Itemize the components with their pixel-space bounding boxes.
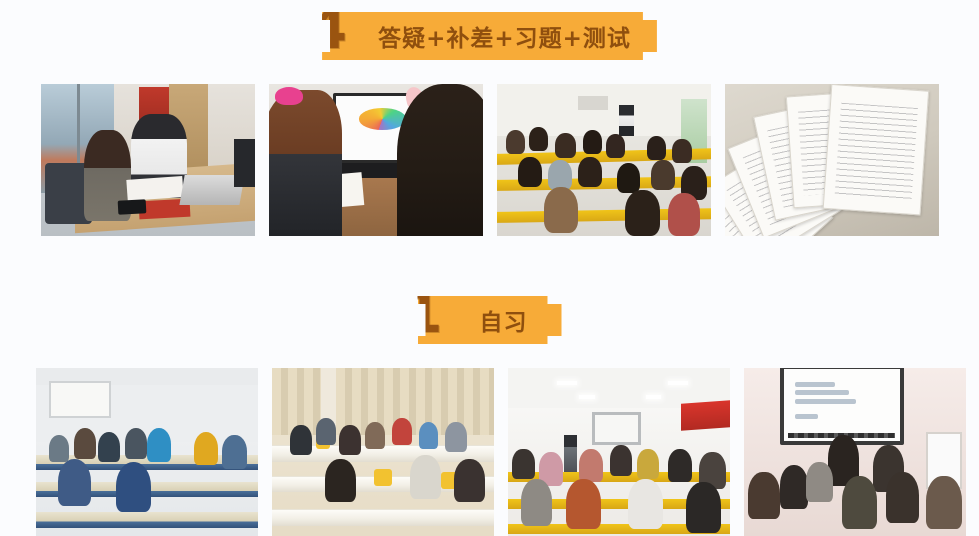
- photo-scene: [272, 368, 494, 536]
- section-qa: 4 答疑+补差+习题+测试: [0, 12, 979, 60]
- section-banner-qa: 4 答疑+补差+习题+测试: [322, 12, 657, 60]
- section-self-study: 1 自习: [0, 296, 979, 344]
- student-figure: [58, 459, 91, 506]
- student-head: [518, 157, 542, 187]
- photo-scene: [41, 84, 255, 236]
- exam-sheet: [823, 84, 930, 215]
- student-head: [506, 130, 525, 154]
- student-figure: [397, 84, 483, 236]
- smartboard-text-line: [795, 414, 818, 419]
- photo-scene: [508, 368, 730, 536]
- wall-decoration: [931, 398, 958, 432]
- student-head: [529, 127, 548, 151]
- photo-row-self-study: [36, 368, 966, 536]
- banner-number: 4: [308, 2, 345, 58]
- student-figure: [49, 435, 69, 462]
- red-wall-banner: [681, 400, 730, 430]
- student-head: [672, 139, 691, 163]
- student-head: [606, 134, 625, 158]
- student-figure: [521, 479, 552, 526]
- student-head: [668, 193, 700, 236]
- bench-row: [36, 512, 258, 527]
- student-figure: [886, 472, 919, 522]
- photo-scene: [725, 84, 939, 236]
- photo-study-hall[interactable]: [272, 368, 494, 536]
- wall-sign: [578, 96, 608, 110]
- teacher-figure: [564, 435, 577, 472]
- ceiling-light: [646, 395, 662, 399]
- student-figure: [668, 449, 692, 483]
- student-figure: [454, 459, 485, 503]
- section-banner-self-study: 1 自习: [418, 296, 562, 344]
- student-figure: [194, 432, 218, 466]
- student-figure: [579, 449, 603, 483]
- student-figure: [748, 472, 779, 519]
- photo-scene: [497, 84, 711, 236]
- banner-label: 答疑+补差+习题+测试: [378, 19, 631, 53]
- ceiling-light: [668, 381, 688, 385]
- smartboard-text-line: [795, 399, 855, 404]
- handwriting-lines: [835, 103, 918, 201]
- student-figure: [125, 428, 147, 458]
- monitor: [234, 139, 255, 188]
- student-head: [548, 160, 572, 190]
- ceiling-light: [579, 395, 595, 399]
- student-figure: [410, 455, 441, 499]
- smartboard-text-line: [795, 382, 835, 387]
- photo-teacher-helping[interactable]: [744, 368, 966, 536]
- banner-row-qa: 4 答疑+补差+习题+测试: [0, 12, 979, 60]
- student-figure: [628, 479, 664, 529]
- student-figure: [445, 422, 467, 452]
- student-figure: [339, 425, 361, 455]
- photo-computer-tutoring[interactable]: [269, 84, 483, 236]
- student-figure: [780, 465, 809, 509]
- photo-lecture-room[interactable]: [36, 368, 258, 536]
- tutor-figure: [269, 90, 342, 236]
- student-head: [555, 133, 576, 159]
- teacher-figure: [619, 105, 634, 135]
- smartboard: [780, 368, 904, 445]
- banner-label: 自习: [480, 303, 528, 337]
- student-head: [544, 187, 578, 233]
- student-figure: [512, 449, 534, 479]
- photo-scene: [269, 84, 483, 236]
- student-figure: [610, 445, 632, 475]
- study-carrel-row: [272, 509, 494, 526]
- smartphone: [118, 199, 146, 214]
- student-head: [647, 136, 666, 160]
- student-figure: [316, 418, 336, 445]
- photo-exam-papers[interactable]: [725, 84, 939, 236]
- hair-bow: [275, 87, 303, 105]
- student-head: [651, 160, 675, 190]
- student-figure: [325, 459, 356, 503]
- photo-row-qa: [41, 84, 939, 236]
- student-head: [583, 130, 602, 154]
- wall-region: [497, 84, 711, 136]
- student-head: [617, 163, 641, 193]
- ceiling-light: [557, 381, 577, 385]
- student-figure: [365, 422, 385, 449]
- student-figure: [926, 476, 962, 530]
- student-figure: [116, 462, 152, 512]
- rainbow-graphic: [359, 108, 406, 129]
- photo-one-on-one-tutoring[interactable]: [41, 84, 255, 236]
- student-figure: [222, 435, 246, 469]
- paper-stack: [126, 176, 183, 201]
- student-figure: [842, 476, 878, 530]
- student-figure: [566, 479, 602, 529]
- student-figure: [637, 449, 659, 479]
- student-figure: [419, 422, 439, 449]
- photo-scene: [36, 368, 258, 536]
- banner-number: 1: [404, 286, 441, 342]
- whiteboard: [592, 412, 641, 446]
- student-head: [625, 190, 659, 236]
- student-figure: [290, 425, 312, 455]
- student-figure: [806, 462, 833, 502]
- student-head: [578, 157, 602, 187]
- photo-classroom-banner[interactable]: [508, 368, 730, 536]
- student-figure: [74, 428, 96, 458]
- yellow-chair: [374, 469, 392, 486]
- student-figure: [392, 418, 412, 445]
- smartboard-text-line: [795, 390, 849, 395]
- student-figure: [686, 482, 722, 532]
- banner-row-self-study: 1 自习: [0, 296, 979, 344]
- photo-classroom-study[interactable]: [497, 84, 711, 236]
- student-figure: [98, 432, 120, 462]
- projection-screen: [49, 381, 111, 418]
- student-figure: [147, 428, 171, 462]
- photo-scene: [744, 368, 966, 536]
